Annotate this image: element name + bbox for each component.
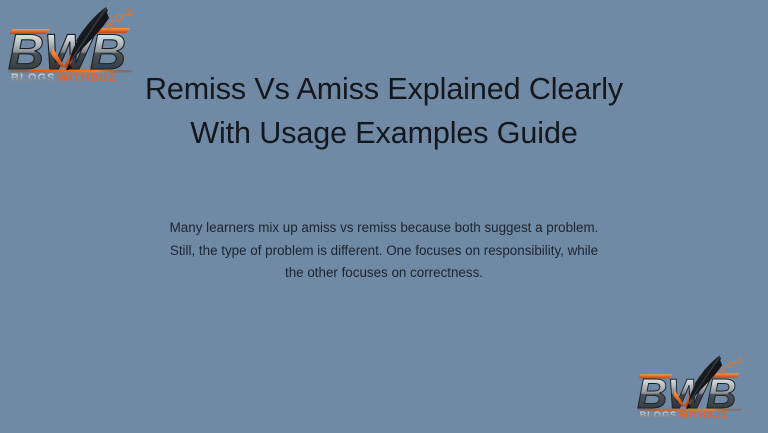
slide-canvas: B W B [0, 0, 768, 433]
page-title: Remiss Vs Amiss Explained Clearly With U… [0, 68, 768, 155]
page-description: Many learners mix up amiss vs remiss bec… [101, 217, 667, 285]
logo-tagline-accent: WITHBUZ [679, 410, 728, 420]
brand-logo-bottom-right[interactable]: B W B [632, 351, 760, 421]
logo-tagline-primary: BLOGS [640, 410, 678, 420]
logo-tagline: BLOGS WITHBUZ [640, 410, 729, 420]
